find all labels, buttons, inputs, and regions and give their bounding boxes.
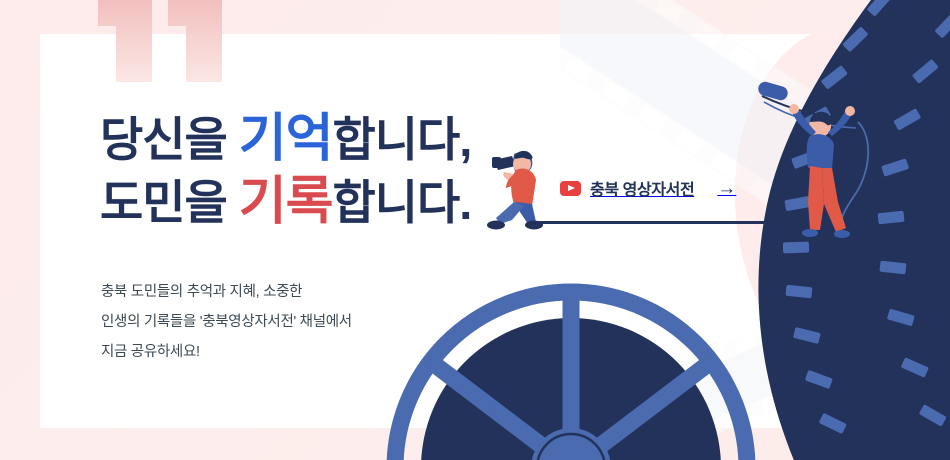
banner-description: 충북 도민들의 추억과 지혜, 소중한 인생의 기록들을 '충북영상자서전' 채… xyxy=(101,277,352,367)
headline-line-2: 도민을 기록합니다. xyxy=(100,171,471,234)
headline-line1-pre: 당신을 xyxy=(100,113,239,166)
youtube-channel-label: 충북 영상자서전 xyxy=(590,176,694,200)
quote-mark-icon xyxy=(98,0,228,82)
headline-accent-red: 기록 xyxy=(239,173,333,231)
page-title: 당신을 기억합니다, 도민을 기록합니다. xyxy=(100,108,471,234)
headline-line2-post: 합니다. xyxy=(332,176,471,229)
boom-operator-illustration xyxy=(762,78,880,242)
description-line-3: 지금 공유하세요! xyxy=(101,337,352,367)
headline-line2-pre: 도민을 xyxy=(100,176,239,229)
photographer-illustration xyxy=(474,132,584,232)
headline-line-1: 당신을 기억합니다, xyxy=(100,108,471,171)
film-reel-illustration xyxy=(396,268,746,460)
promo-banner: 당신을 기억합니다, 도민을 기록합니다. 충북 도민들의 추억과 지혜, 소중… xyxy=(0,0,950,460)
description-line-2: 인생의 기록들을 '충북영상자서전' 채널에서 xyxy=(101,307,352,337)
description-line-1: 충북 도민들의 추억과 지혜, 소중한 xyxy=(101,277,352,307)
headline-line1-post: 합니다, xyxy=(332,113,471,166)
headline-accent-blue: 기억 xyxy=(239,110,333,168)
